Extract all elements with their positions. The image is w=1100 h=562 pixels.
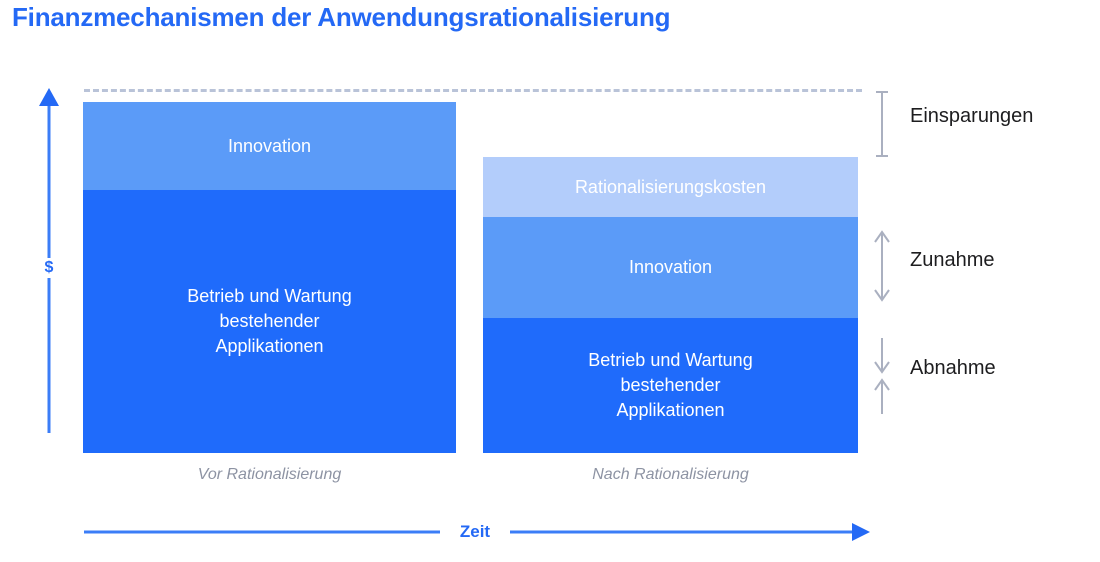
segment-rationalization-costs-after[interactable]: Rationalisierungskosten [483,157,858,217]
segment-operations-before[interactable]: Betrieb und Wartung bestehender Applikat… [83,190,456,453]
annotation-savings-label: Einsparungen [910,105,1033,128]
segment-operations-after-line1: Betrieb und Wartung [588,350,752,370]
reference-line [84,89,862,92]
annotation-decrease-label: Abnahme [910,357,996,380]
decrease-converging-arrows-icon [871,338,893,414]
segment-innovation-after-label: Innovation [629,255,712,280]
segment-operations-after[interactable]: Betrieb und Wartung bestehender Applikat… [483,318,858,453]
bar-before-caption: Vor Rationalisierung [83,466,456,484]
segment-innovation-before-label: Innovation [228,134,311,159]
segment-innovation-after[interactable]: Innovation [483,217,858,318]
annotation-increase-label: Zunahme [910,249,995,272]
bar-before-rationalization: Innovation Betrieb und Wartung bestehend… [83,102,456,453]
segment-innovation-before[interactable]: Innovation [83,102,456,190]
increase-double-arrow-icon [871,228,893,304]
segment-operations-before-line2: bestehender [219,311,319,331]
savings-bracket-icon [871,90,893,158]
segment-operations-before-label: Betrieb und Wartung bestehender Applikat… [187,284,351,359]
segment-operations-after-line2: bestehender [620,375,720,395]
segment-operations-after-label: Betrieb und Wartung bestehender Applikat… [588,348,752,423]
bar-after-caption: Nach Rationalisierung [483,466,858,484]
segment-operations-before-line1: Betrieb und Wartung [187,286,351,306]
segment-rationalization-costs-after-label: Rationalisierungskosten [575,175,766,200]
segment-operations-after-line3: Applikationen [616,400,724,420]
bar-after-rationalization: Rationalisierungskosten Innovation Betri… [483,157,858,453]
page-title: Finanzmechanismen der Anwendungsrational… [12,2,670,33]
segment-operations-before-line3: Applikationen [215,336,323,356]
time-axis-label: Zeit [440,521,510,543]
y-axis-label: $ [36,258,62,278]
